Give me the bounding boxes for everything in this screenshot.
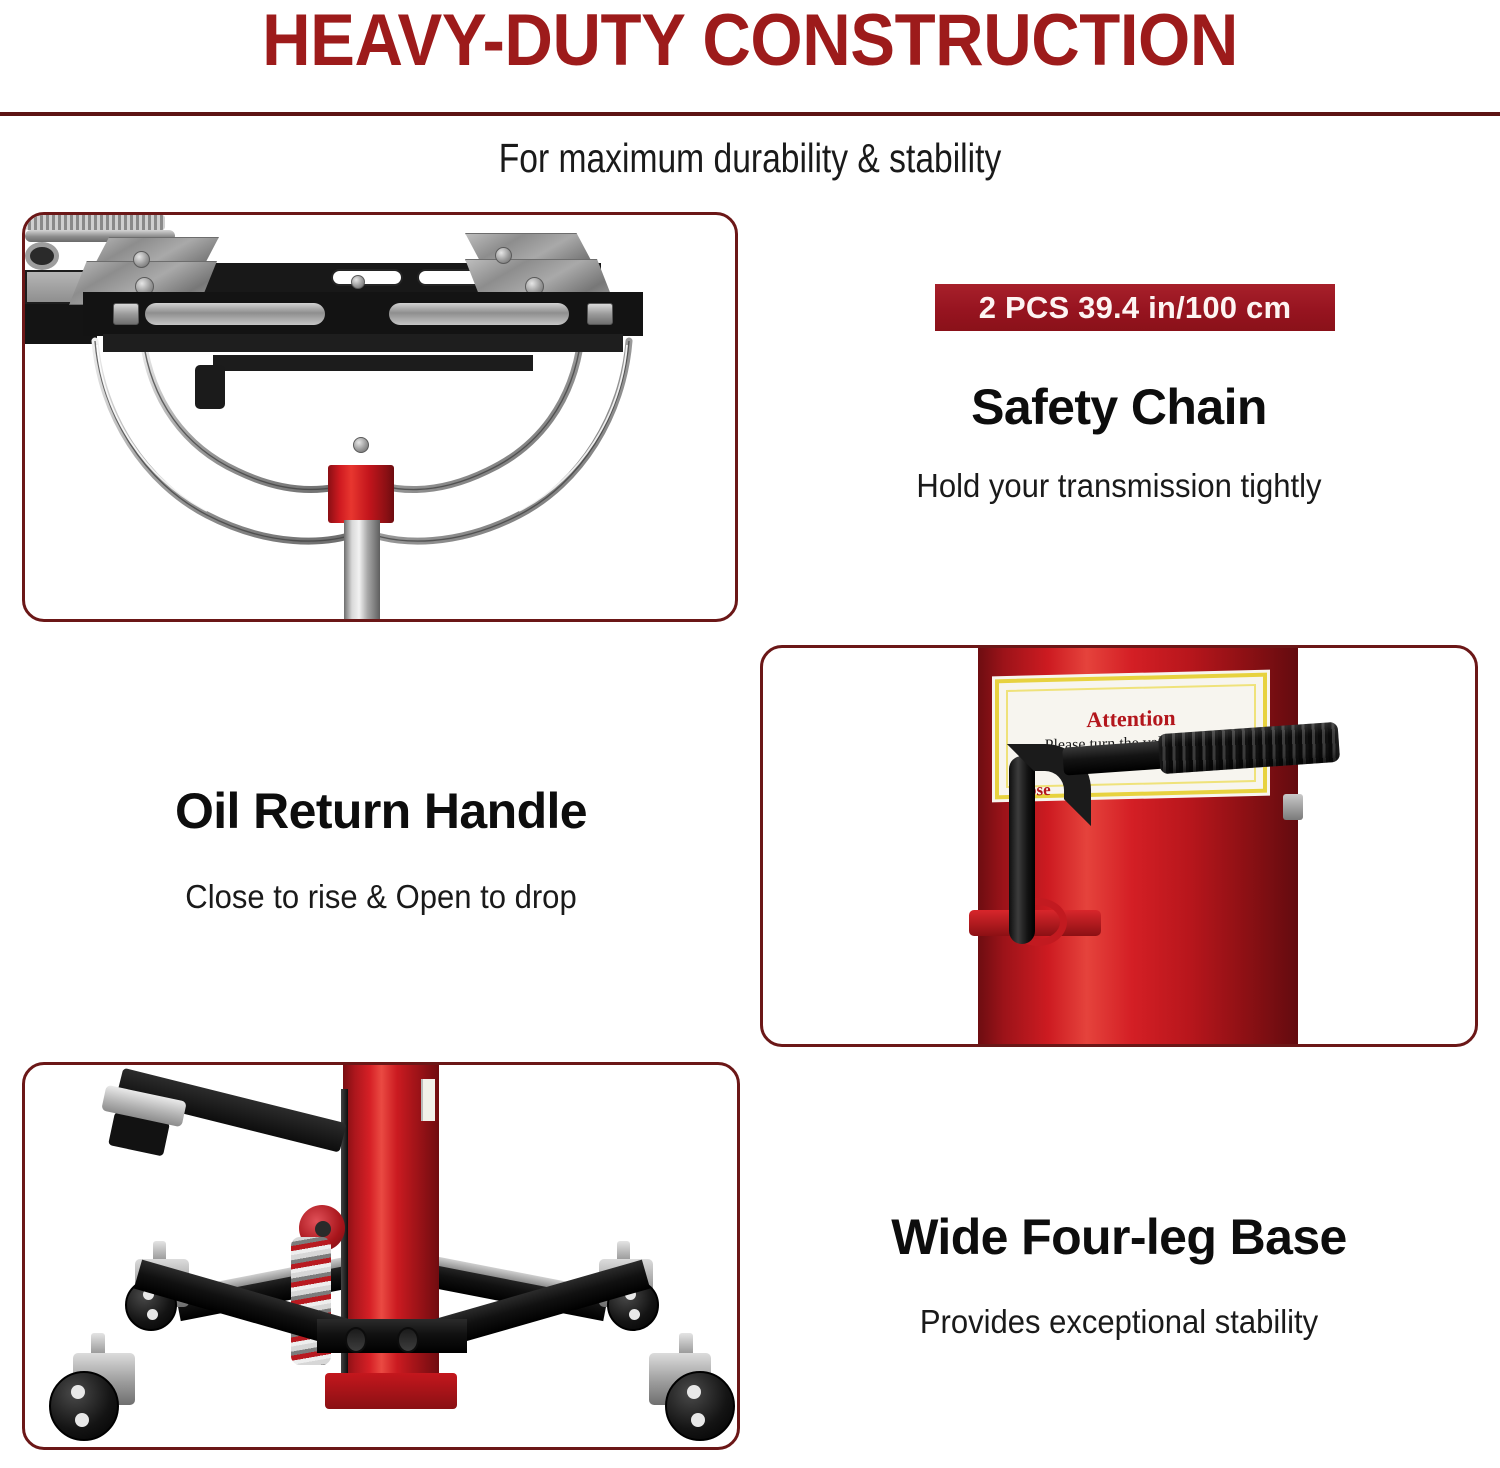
bracket-bolt-3 xyxy=(495,247,512,264)
product-image-panel-four-leg-base xyxy=(22,1062,740,1450)
bracket-bolt-1 xyxy=(133,251,150,268)
caster-hole-rl-2 xyxy=(147,1309,158,1320)
base-hole-right xyxy=(397,1327,419,1353)
caster-wheel-front-right xyxy=(665,1371,735,1441)
feature-subtitle-safety-chain: Hold your transmission tightly xyxy=(782,467,1457,505)
saddle-mechanism-bar xyxy=(213,355,533,371)
feature-title-safety-chain: Safety Chain xyxy=(760,378,1478,436)
caster-hole-fr-1 xyxy=(687,1385,701,1399)
feature-title-four-leg-base: Wide Four-leg Base xyxy=(760,1208,1478,1266)
product-image-panel-oil-return-handle: Attention Please turn the valve to the p… xyxy=(760,645,1478,1047)
beam-rail-right xyxy=(389,303,569,325)
feature-subtitle-oil-return-handle: Close to rise & Open to drop xyxy=(44,878,719,916)
illustration-oil-return-handle: Attention Please turn the valve to the p… xyxy=(763,648,1475,1044)
saddle-beam-underside xyxy=(103,334,623,352)
adjust-knob xyxy=(195,365,225,409)
caster-wheel-front-left xyxy=(49,1371,119,1441)
pedal-pivot-bolt xyxy=(315,1221,331,1237)
base-center-plate xyxy=(317,1319,467,1353)
cylinder-side-bolt xyxy=(1283,794,1303,820)
beam-rail-left xyxy=(145,303,325,325)
illustration-four-leg-base xyxy=(25,1065,737,1447)
caster-hole-fl-1 xyxy=(71,1385,85,1399)
beam-hex-bolt-left xyxy=(113,303,139,325)
header-divider xyxy=(0,112,1500,116)
caster-hole-fr-2 xyxy=(691,1413,705,1427)
feature-title-oil-return-handle: Oil Return Handle xyxy=(22,782,740,840)
chrome-ram-shaft xyxy=(344,520,380,622)
beam-center-bolt xyxy=(351,275,365,289)
feature-subtitle-four-leg-base: Provides exceptional stability xyxy=(782,1303,1457,1341)
status-badge: 2 PCS 39.4 in/100 cm xyxy=(935,284,1335,331)
base-center-hub xyxy=(325,1373,457,1409)
page-title: HEAVY-DUTY CONSTRUCTION xyxy=(60,2,1440,79)
page-subtitle: For maximum durability & stability xyxy=(135,135,1365,182)
beam-hex-bolt-right xyxy=(587,303,613,325)
infographic-page: HEAVY-DUTY CONSTRUCTION For maximum dura… xyxy=(0,0,1500,1468)
caster-hole-fl-2 xyxy=(75,1413,89,1427)
column-sticker xyxy=(421,1079,435,1121)
collar-bolt xyxy=(353,437,369,453)
base-hole-left xyxy=(345,1327,367,1353)
caster-hole-rr-2 xyxy=(629,1309,640,1320)
product-image-panel-safety-chain xyxy=(22,212,738,622)
illustration-saddle-chains xyxy=(25,215,735,619)
ram-red-collar xyxy=(328,465,394,523)
saddle-slot-left xyxy=(331,269,403,286)
